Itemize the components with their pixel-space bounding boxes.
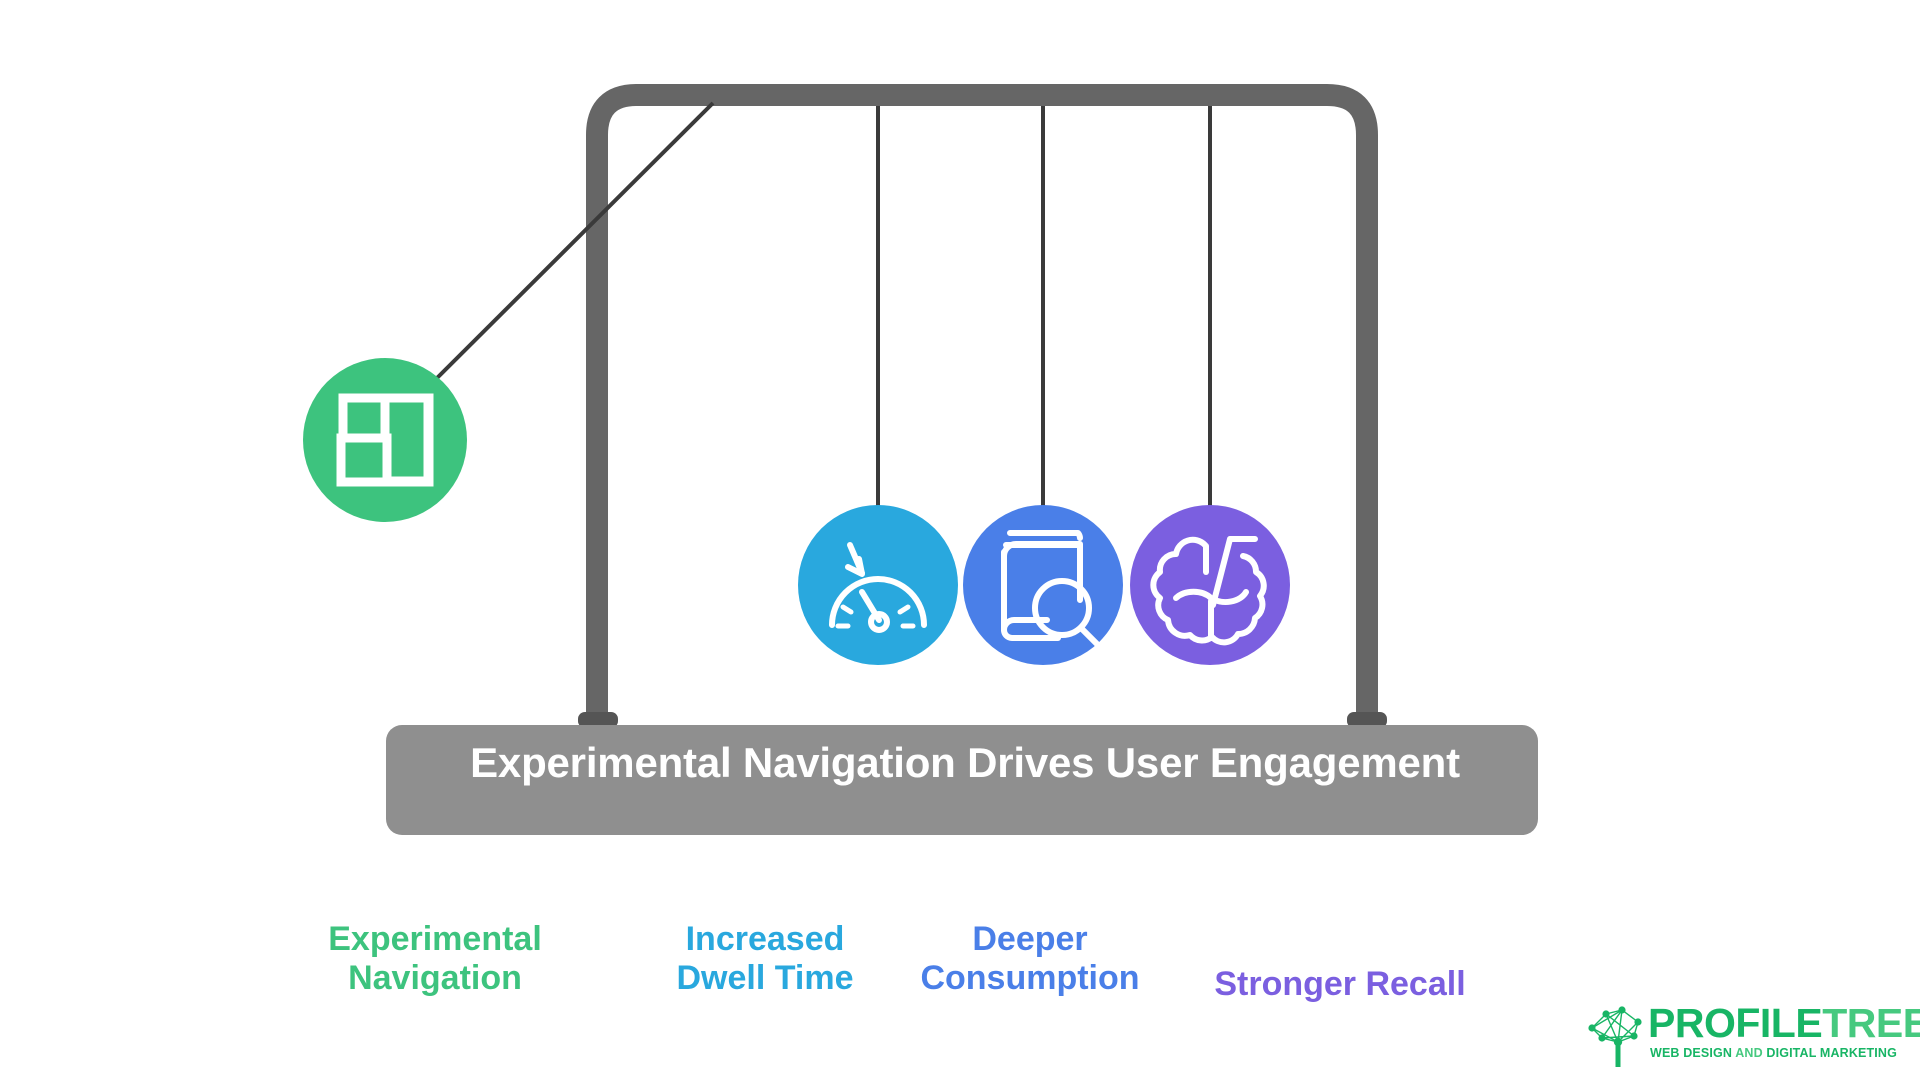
logo-name-secondary: TREE <box>1822 1000 1920 1046</box>
infographic-canvas: Experimental Navigation Drives User Enga… <box>0 0 1920 1080</box>
caption-increased-dwell-time: Increased Dwell Time <box>620 920 910 998</box>
tagline-primary: WEB DESIGN <box>1650 1046 1732 1060</box>
logo-wordmark: PROFILETREE <box>1648 1000 1904 1046</box>
tagline-mid: AND <box>1732 1046 1766 1060</box>
logo-name-primary: PROFILE <box>1648 1000 1822 1046</box>
caption-stronger-recall: Stronger Recall <box>1175 965 1505 1004</box>
ball-increased-dwell-time[interactable] <box>798 505 958 665</box>
logo-tagline: WEB DESIGN AND DIGITAL MARKETING <box>1650 1046 1904 1060</box>
newtons-cradle-illustration <box>0 0 1920 1080</box>
caption-experimental-navigation: Experimental Navigation <box>290 920 580 998</box>
ball-experimental-navigation[interactable] <box>303 358 467 522</box>
tagline-secondary: DIGITAL MARKETING <box>1766 1046 1897 1060</box>
page-title: Experimental Navigation Drives User Enga… <box>390 742 1540 784</box>
ball-circle <box>798 505 958 665</box>
ball-deeper-consumption[interactable] <box>963 505 1123 665</box>
network-tree-icon <box>1584 1002 1648 1068</box>
string-experimental-navigation <box>432 103 713 383</box>
ball-stronger-recall[interactable] <box>1130 505 1290 665</box>
caption-deeper-consumption: Deeper Consumption <box>885 920 1175 998</box>
profiletree-logo[interactable]: PROFILETREE WEB DESIGN AND DIGITAL MARKE… <box>1584 1000 1904 1072</box>
